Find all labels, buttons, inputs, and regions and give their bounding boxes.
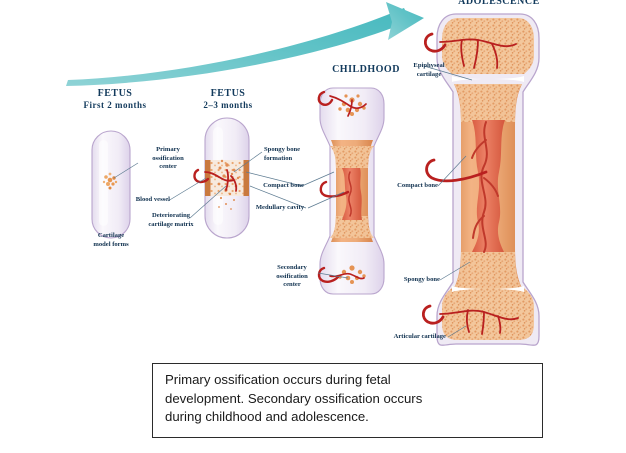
bone-fetus-2 xyxy=(194,118,249,238)
stage-title: FETUS xyxy=(178,88,278,100)
diagram-canvas: FETUS First 2 months FETUS 2–3 months CH… xyxy=(0,0,626,453)
bone-fetus-1 xyxy=(92,131,130,238)
label-spongy-bone-adolescence: Spongy bone xyxy=(388,276,440,285)
label-epiphyseal-cartilage: Epiphyseal cartilage xyxy=(406,62,452,79)
label-primary-ossification-center: Primary ossification center xyxy=(138,146,198,172)
caption-box: Primary ossification occurs during fetal… xyxy=(152,363,543,438)
stage-heading-adolescence: ADOLESCENCE xyxy=(436,0,562,8)
label-compact-bone-adolescence: Compact bone xyxy=(382,182,438,191)
stage-title: ADOLESCENCE xyxy=(436,0,562,8)
label-medullary-cavity: Medullary cavity xyxy=(240,204,304,213)
label-articular-cartilage: Articular cartilage xyxy=(372,333,446,342)
bone-childhood xyxy=(319,88,384,294)
caption-line-2: development. Secondary ossification occu… xyxy=(165,390,532,409)
label-compact-bone-childhood: Compact bone xyxy=(248,182,304,191)
label-secondary-ossification-center: Secondary ossification center xyxy=(264,264,320,290)
label-spongy-bone-formation: Spongy bone formation xyxy=(264,146,328,163)
stage-title: FETUS xyxy=(62,88,168,100)
stage-subtitle: 2–3 months xyxy=(178,100,278,110)
stage-subtitle: First 2 months xyxy=(62,100,168,110)
label-blood-vessel: Blood vessel xyxy=(108,196,170,205)
label-cartilage-model-forms: Cartilage model forms xyxy=(80,232,142,249)
caption-line-1: Primary ossification occurs during fetal xyxy=(165,371,532,390)
caption-line-3: during childhood and adolescence. xyxy=(165,408,532,427)
label-deteriorating-cartilage-matrix: Deteriorating cartilage matrix xyxy=(140,212,202,229)
stage-heading-fetus-1: FETUS First 2 months xyxy=(62,88,168,110)
stage-heading-fetus-2: FETUS 2–3 months xyxy=(178,88,278,110)
